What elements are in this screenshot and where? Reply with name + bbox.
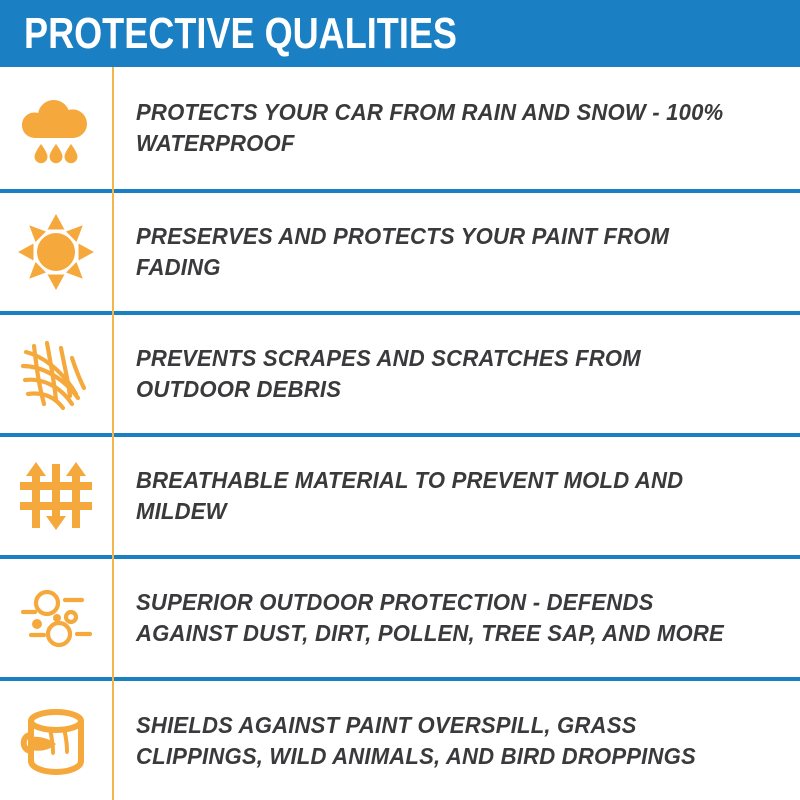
- icon-cell: [0, 437, 112, 555]
- icon-cell: [0, 559, 112, 677]
- protective-qualities-infographic: PROTECTIVE QUALITIES PROTECTS YOUR CAR F…: [0, 0, 800, 800]
- list-item: SHIELDS AGAINST PAINT OVERSPILL, GRASS C…: [0, 677, 800, 799]
- icon-cell: [0, 681, 112, 799]
- list-item: PRESERVES AND PROTECTS YOUR PAINT FROM F…: [0, 189, 800, 311]
- paint-can-icon: [14, 699, 98, 783]
- sun-icon: [14, 210, 98, 294]
- list-item: PROTECTS YOUR CAR FROM RAIN AND SNOW - 1…: [0, 67, 800, 189]
- feature-text: SHIELDS AGAINST PAINT OVERSPILL, GRASS C…: [136, 710, 747, 772]
- text-cell: PREVENTS SCRAPES AND SCRATCHES FROM OUTD…: [112, 343, 800, 405]
- breathable-airflow-arrows-icon: [14, 454, 98, 538]
- feature-text: PROTECTS YOUR CAR FROM RAIN AND SNOW - 1…: [136, 97, 747, 159]
- page-title: PROTECTIVE QUALITIES: [24, 12, 457, 56]
- header-bar: PROTECTIVE QUALITIES: [0, 0, 800, 67]
- feature-text: PRESERVES AND PROTECTS YOUR PAINT FROM F…: [136, 221, 747, 283]
- text-cell: BREATHABLE MATERIAL TO PREVENT MOLD AND …: [112, 465, 800, 527]
- list-item: SUPERIOR OUTDOOR PROTECTION - DEFENDS AG…: [0, 555, 800, 677]
- text-cell: SUPERIOR OUTDOOR PROTECTION - DEFENDS AG…: [112, 587, 800, 649]
- icon-cell: [0, 67, 112, 189]
- text-cell: PRESERVES AND PROTECTS YOUR PAINT FROM F…: [112, 221, 800, 283]
- text-cell: PROTECTS YOUR CAR FROM RAIN AND SNOW - 1…: [112, 97, 800, 159]
- features-list: PROTECTS YOUR CAR FROM RAIN AND SNOW - 1…: [0, 67, 800, 800]
- icon-cell: [0, 315, 112, 433]
- feature-text: SUPERIOR OUTDOOR PROTECTION - DEFENDS AG…: [136, 587, 747, 649]
- text-cell: SHIELDS AGAINST PAINT OVERSPILL, GRASS C…: [112, 710, 800, 772]
- icon-cell: [0, 193, 112, 311]
- vertical-divider: [112, 67, 114, 800]
- rain-cloud-icon: [14, 86, 98, 170]
- list-item: PREVENTS SCRAPES AND SCRATCHES FROM OUTD…: [0, 311, 800, 433]
- feature-text: PREVENTS SCRAPES AND SCRATCHES FROM OUTD…: [136, 343, 747, 405]
- list-item: BREATHABLE MATERIAL TO PREVENT MOLD AND …: [0, 433, 800, 555]
- dust-particles-icon: [14, 576, 98, 660]
- scratches-mesh-icon: [14, 332, 98, 416]
- feature-text: BREATHABLE MATERIAL TO PREVENT MOLD AND …: [136, 465, 747, 527]
